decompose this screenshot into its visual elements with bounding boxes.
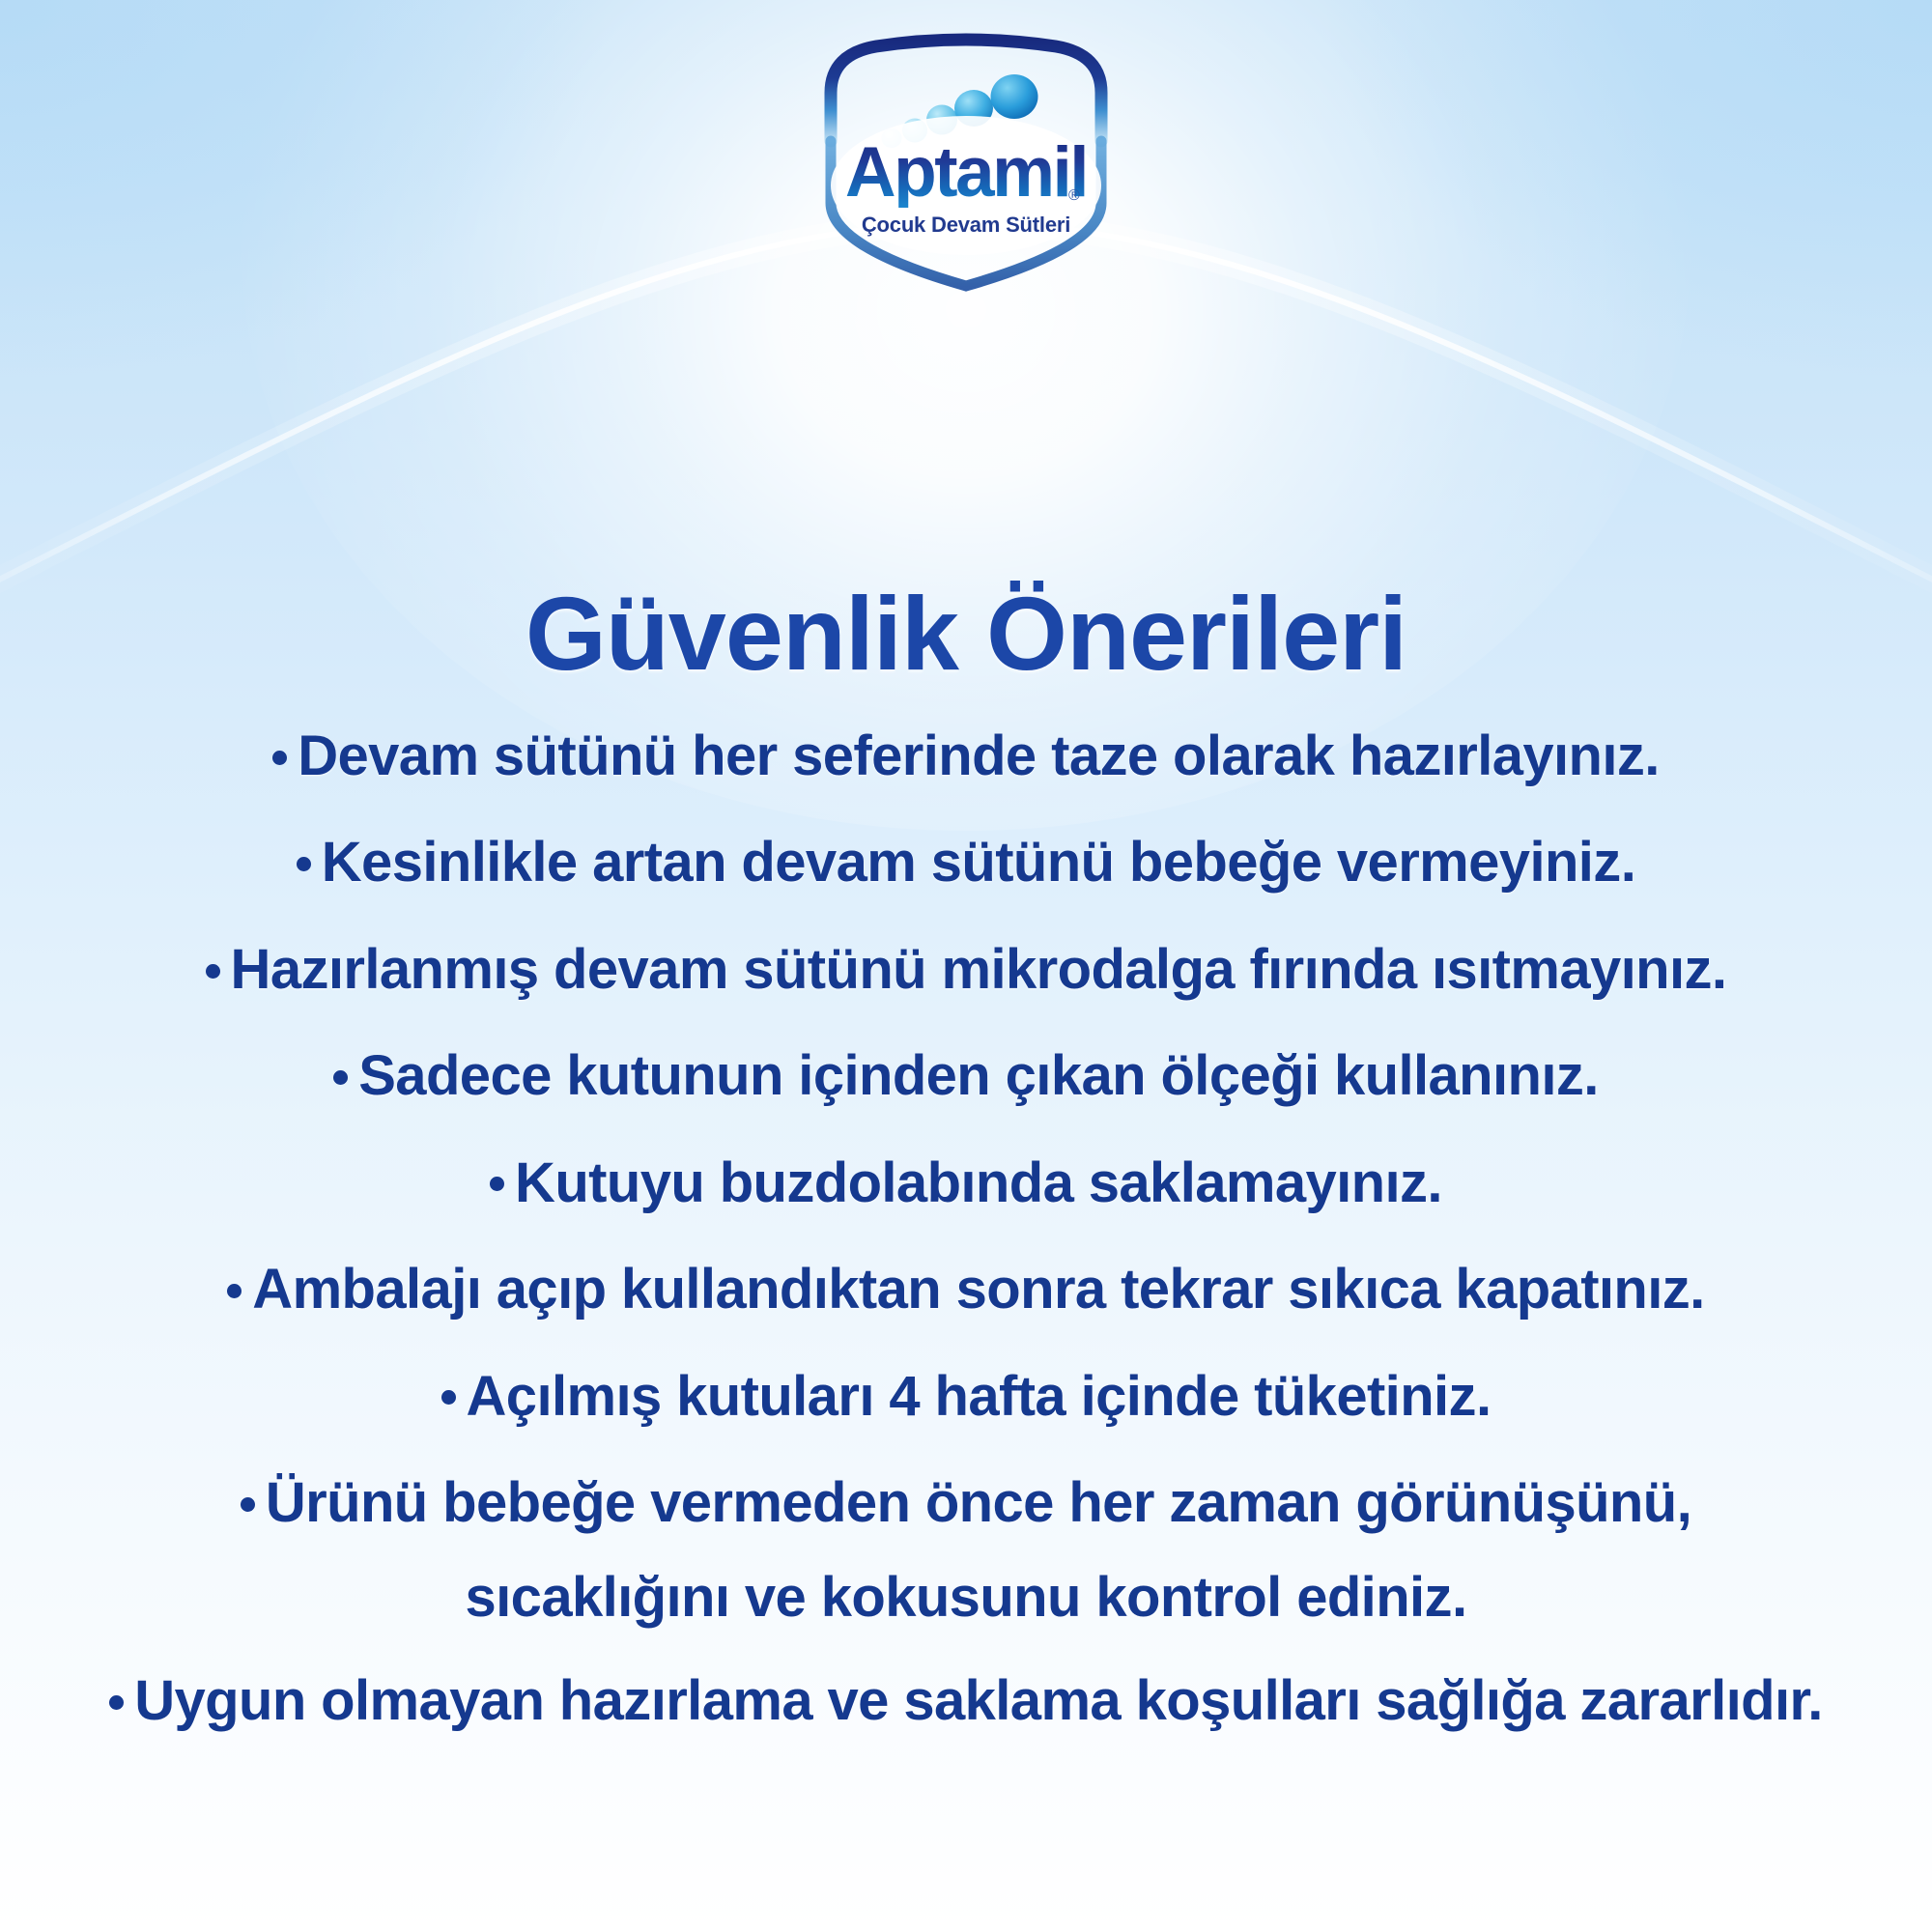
bullet-icon <box>490 1177 504 1191</box>
list-item-text: Kesinlikle artan devam sütünü bebeğe ver… <box>322 831 1635 894</box>
list-item: Uygun olmayan hazırlama ve saklama koşul… <box>0 1671 1932 1730</box>
bullet-icon <box>333 1070 348 1085</box>
list-item: Hazırlanmış devam sütünü mikrodalga fırı… <box>0 940 1932 999</box>
bullet-icon <box>297 857 311 871</box>
bullet-icon <box>241 1497 255 1512</box>
logo-dot-5 <box>991 74 1038 119</box>
list-item-text: Ambalajı açıp kullandıktan sonra tekrar … <box>252 1258 1704 1321</box>
list-item: Açılmış kutuları 4 hafta içinde tüketini… <box>0 1367 1932 1426</box>
registered-trademark-icon: ® <box>1068 187 1080 205</box>
list-item-text: Sadece kutunun içinden çıkan ölçeği kull… <box>358 1044 1599 1107</box>
list-item-text: Devam sütünü her seferinde taze olarak h… <box>298 724 1660 787</box>
list-item: Ambalajı açıp kullandıktan sonra tekrar … <box>0 1260 1932 1319</box>
list-item: Sadece kutunun içinden çıkan ölçeği kull… <box>0 1046 1932 1105</box>
list-item: Devam sütünü her seferinde taze olarak h… <box>0 726 1932 785</box>
safety-tips-list: Devam sütünü her seferinde taze olarak h… <box>0 726 1932 1731</box>
bullet-icon <box>441 1390 456 1405</box>
list-item-text: Uygun olmayan hazırlama ve saklama koşul… <box>134 1669 1823 1732</box>
list-item-text: Hazırlanmış devam sütünü mikrodalga fırı… <box>231 938 1727 1001</box>
bullet-icon <box>109 1695 124 1710</box>
list-item-text-line2: sıcaklığını ve kokusunu kontrol ediniz. <box>0 1568 1932 1627</box>
bullet-icon <box>272 751 287 765</box>
list-item: Kesinlikle artan devam sütünü bebeğe ver… <box>0 833 1932 892</box>
poster-canvas: Aptamil ® Çocuk Devam Sütleri Güvenlik Ö… <box>0 0 1932 1932</box>
bullet-icon <box>227 1284 241 1298</box>
logo-tagline: Çocuk Devam Sütleri <box>807 213 1125 238</box>
list-item: Kutuyu buzdolabında saklamayınız. <box>0 1153 1932 1212</box>
bullet-icon <box>206 964 220 979</box>
list-item-text: Kutuyu buzdolabında saklamayınız. <box>515 1151 1442 1214</box>
list-item: Ürünü bebeğe vermeden önce her zaman gör… <box>0 1473 1932 1627</box>
list-item-text: Açılmış kutuları 4 hafta içinde tüketini… <box>467 1365 1492 1428</box>
aptamil-logo: Aptamil ® Çocuk Devam Sütleri <box>807 33 1125 294</box>
page-title: Güvenlik Önerileri <box>0 572 1932 695</box>
list-item-text: Ürünü bebeğe vermeden önce her zaman gör… <box>266 1471 1691 1534</box>
